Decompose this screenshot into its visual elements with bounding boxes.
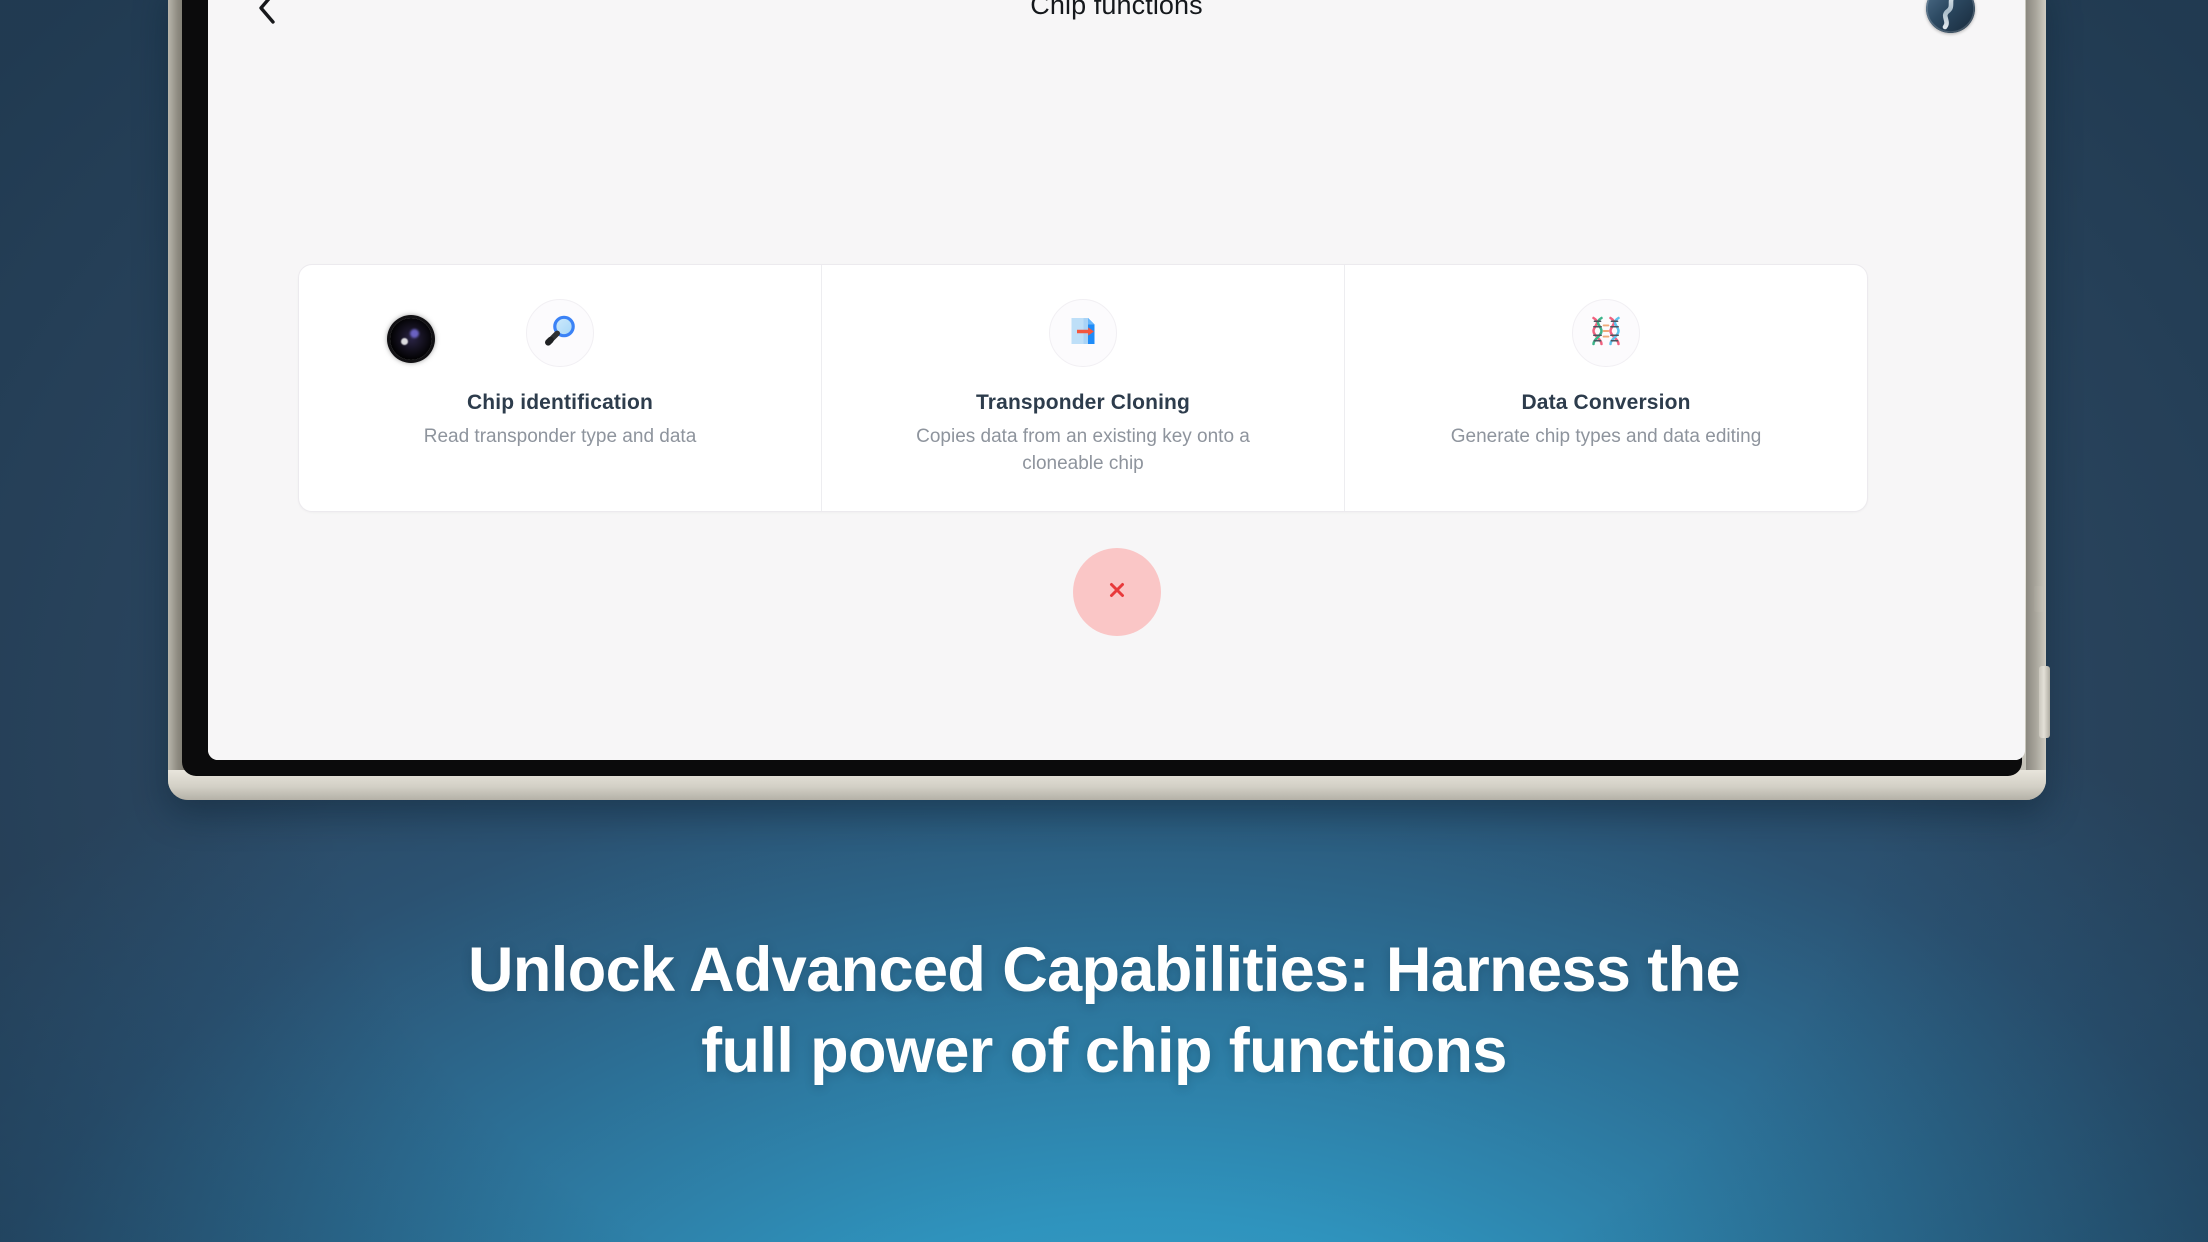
card-title: Chip identification [467, 391, 653, 415]
card-transponder-cloning[interactable]: Transponder Cloning Copies data from an … [821, 265, 1344, 511]
caption-line-1: Unlock Advanced Capabilities: Harness th… [234, 930, 1974, 1011]
chip-functions-card-group: Chip identification Read transponder typ… [298, 264, 1868, 512]
device-power-button[interactable] [2039, 666, 2050, 738]
device-volume-button[interactable] [2034, 586, 2043, 612]
app-screen: Chip functions [208, 0, 2025, 760]
magnifier-icon [540, 311, 580, 356]
promo-caption: Unlock Advanced Capabilities: Harness th… [234, 930, 1974, 1091]
close-x-icon [1104, 577, 1130, 608]
document-export-icon [1063, 311, 1103, 356]
card-description: Read transponder type and data [424, 424, 697, 451]
card-data-conversion[interactable]: Data Conversion Generate chip types and … [1344, 265, 1867, 511]
card-icon-wrapper [1572, 299, 1640, 367]
avatar[interactable] [1926, 0, 1975, 33]
front-camera-icon [390, 318, 432, 360]
card-description: Copies data from an existing key onto a … [883, 424, 1283, 478]
card-icon-wrapper [1049, 299, 1117, 367]
close-button[interactable] [1073, 548, 1161, 636]
card-chip-identification[interactable]: Chip identification Read transponder typ… [299, 265, 821, 511]
device-screen: Chip functions [208, 0, 2025, 760]
dna-icon [1586, 311, 1626, 356]
tablet-device-mockup: Chip functions [168, 0, 2046, 822]
card-title: Transponder Cloning [976, 391, 1190, 415]
caption-line-2: full power of chip functions [234, 1011, 1974, 1092]
app-header: Chip functions [208, 0, 2025, 48]
card-description: Generate chip types and data editing [1451, 424, 1762, 451]
card-icon-wrapper [526, 299, 594, 367]
card-title: Data Conversion [1521, 391, 1690, 415]
device-bezel: Chip functions [182, 0, 2022, 776]
app-logo-avatar-icon [1926, 0, 1975, 33]
page-title: Chip functions [208, 0, 2025, 21]
